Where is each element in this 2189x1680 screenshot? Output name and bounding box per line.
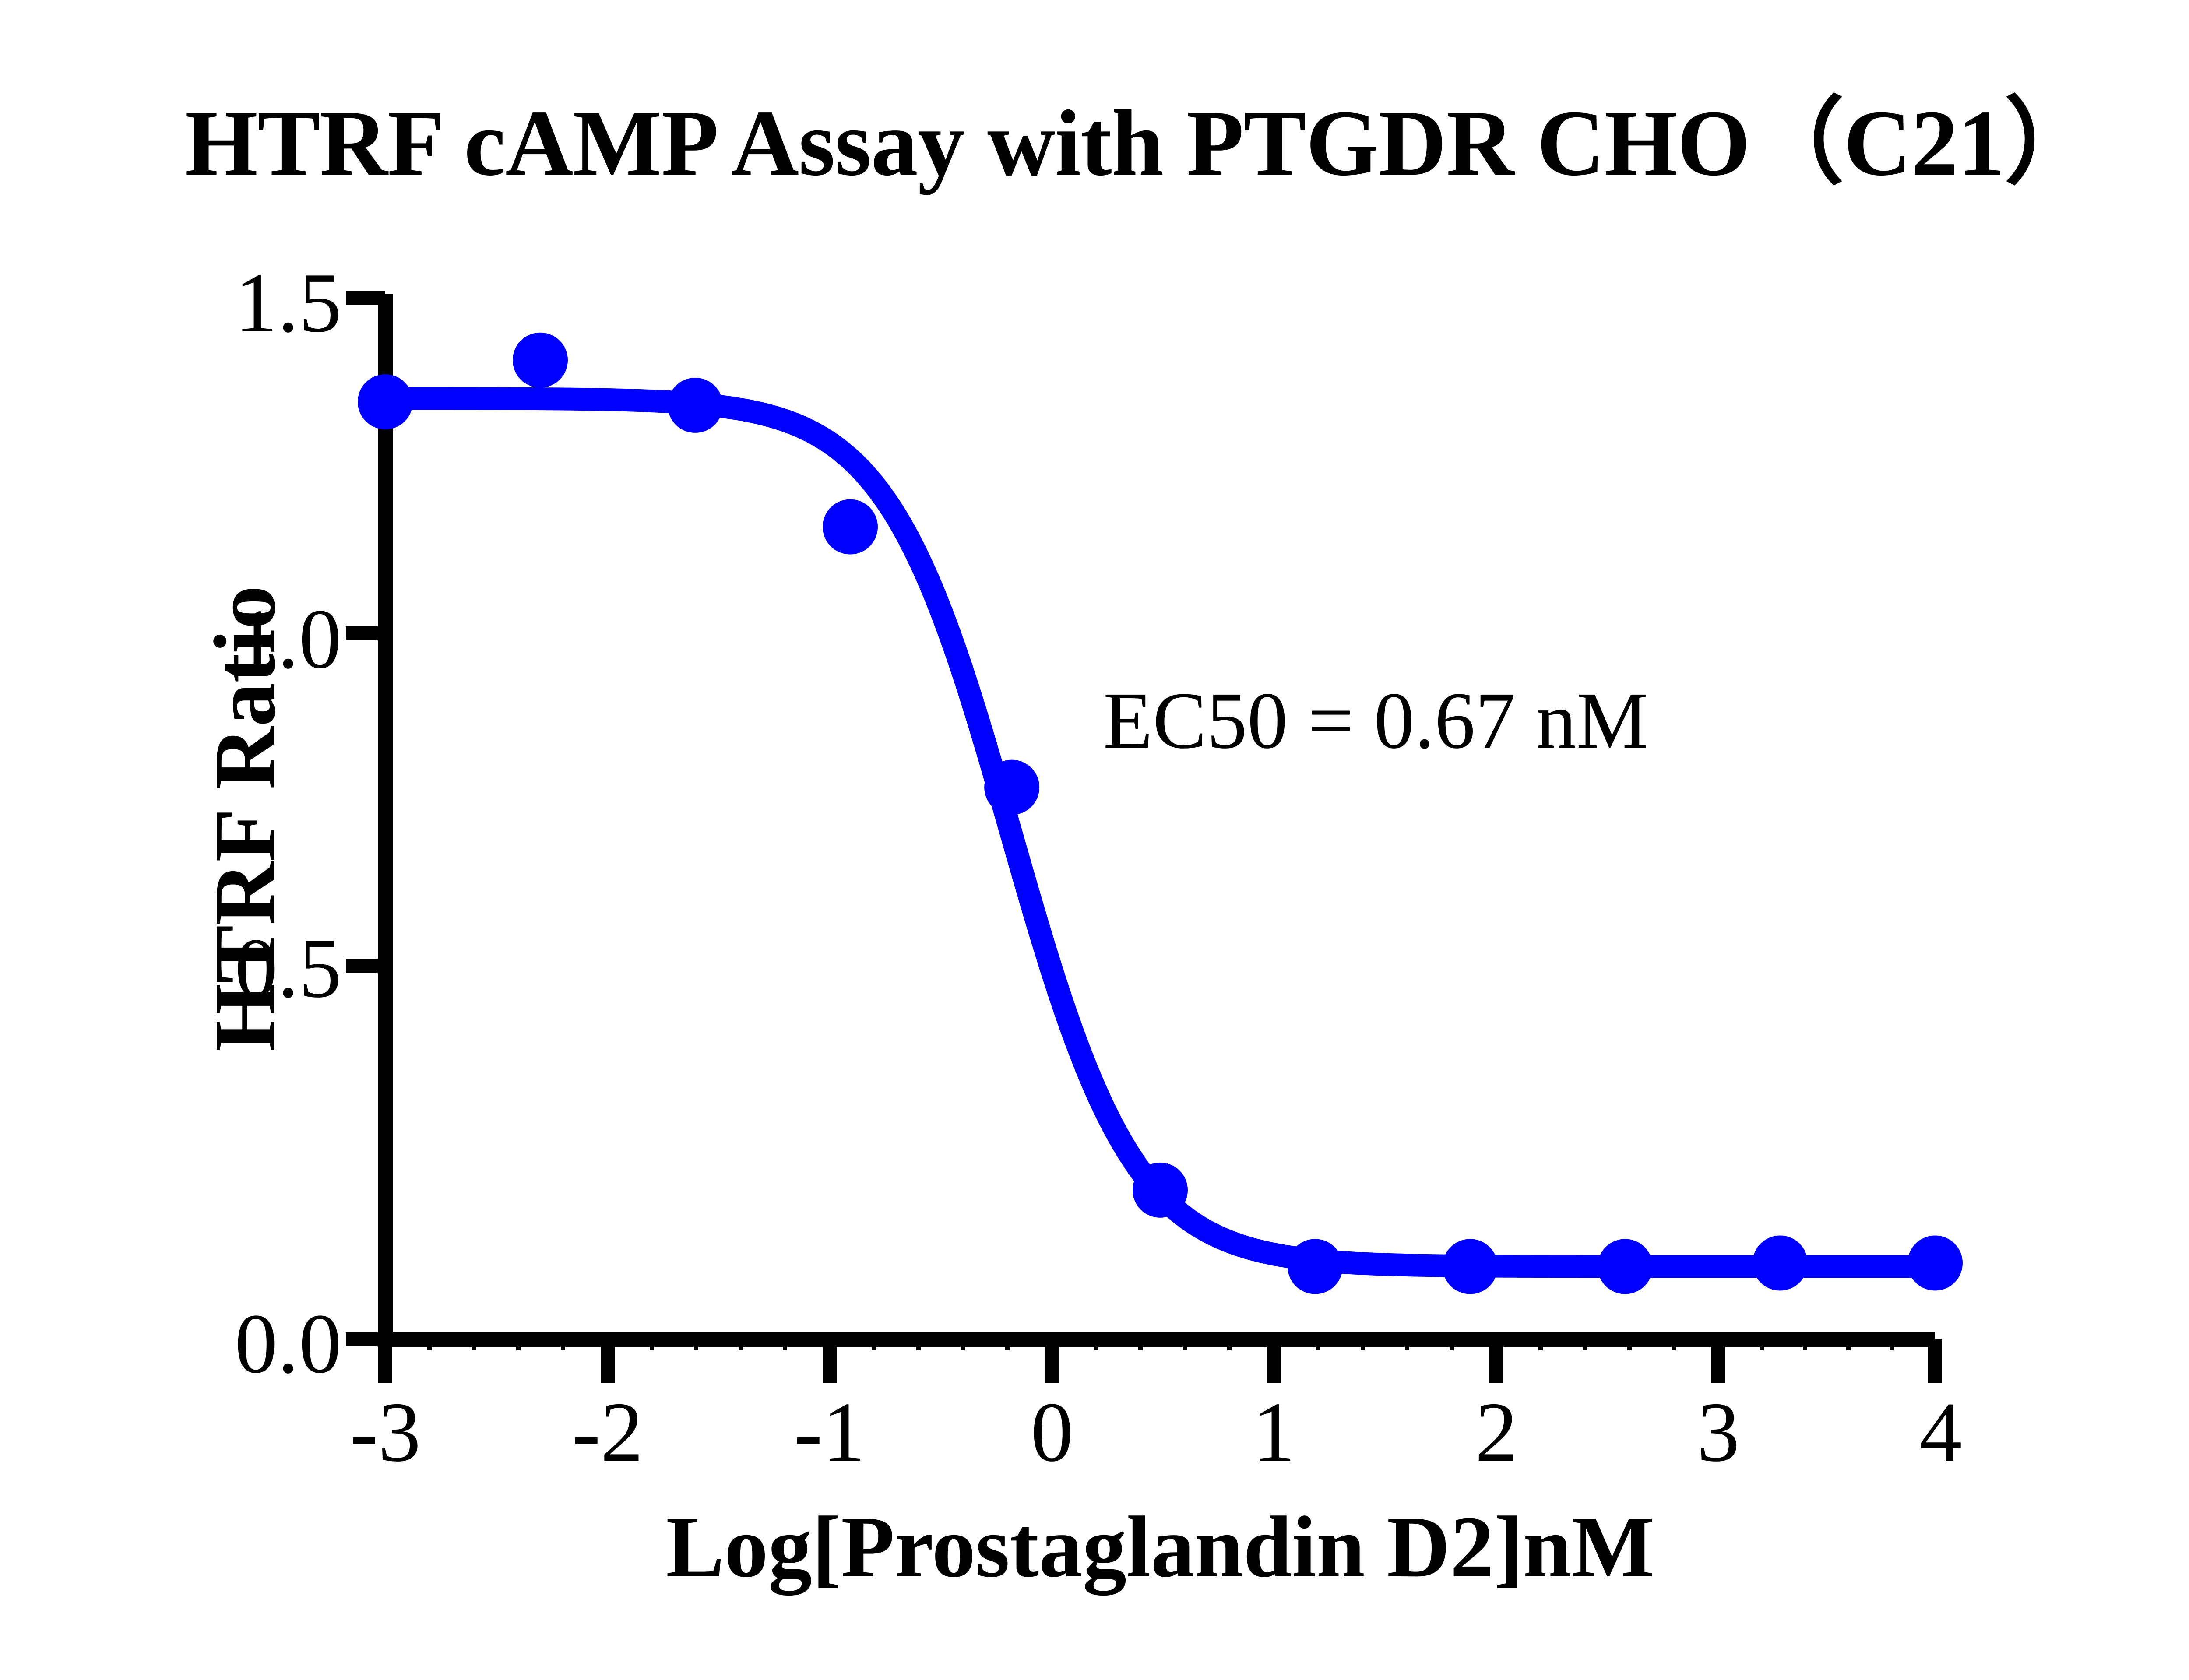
data-point [668,378,723,433]
data-point [1598,1239,1653,1294]
data-point [513,333,568,388]
data-point [1443,1239,1498,1294]
data-point [1753,1235,1808,1290]
data-point [1288,1239,1343,1294]
data-point [823,499,878,555]
data-point [1907,1235,1963,1290]
fit-curve [385,398,1935,1266]
data-point [1133,1163,1188,1218]
plot-area [0,0,2189,1680]
data-point [984,760,1039,815]
data-point-group [358,333,1963,1294]
data-point [358,374,413,429]
figure-canvas: HTRF cAMP Assay with PTGDR CHO（C21） HTRF… [0,0,2189,1680]
